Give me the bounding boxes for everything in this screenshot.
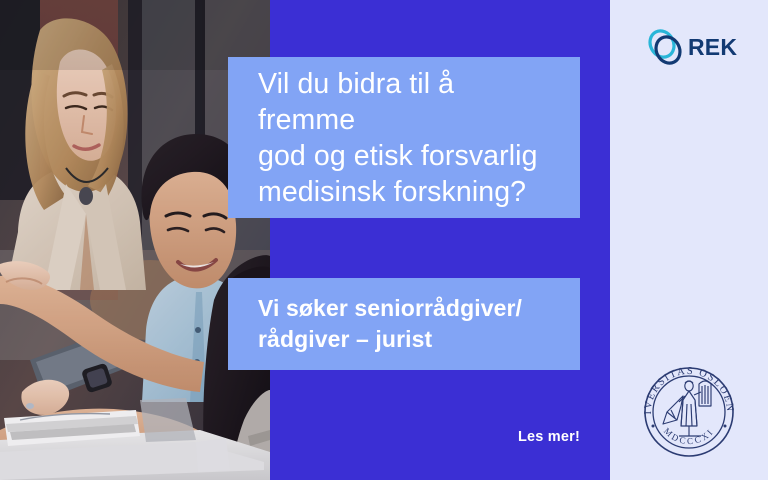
headline-box: Vil du bidra til å fremme god og etisk f…: [228, 57, 580, 218]
job-title-text: Vi søker seniorrådgiver/ rådgiver – juri…: [228, 293, 536, 355]
uio-seal: UNIVERSITAS OSLOENSIS MDCCCXI: [637, 360, 741, 464]
recruitment-banner: Vil du bidra til å fremme god og etisk f…: [0, 0, 768, 480]
job-title-box: Vi søker seniorrådgiver/ rådgiver – juri…: [228, 278, 580, 370]
rek-wordmark: REK: [688, 36, 737, 59]
rek-logo[interactable]: REK: [648, 26, 738, 68]
headline-text: Vil du bidra til å fremme god og etisk f…: [228, 66, 580, 210]
read-more-link[interactable]: Les mer!: [460, 429, 580, 445]
rek-rings-icon: [648, 27, 684, 67]
